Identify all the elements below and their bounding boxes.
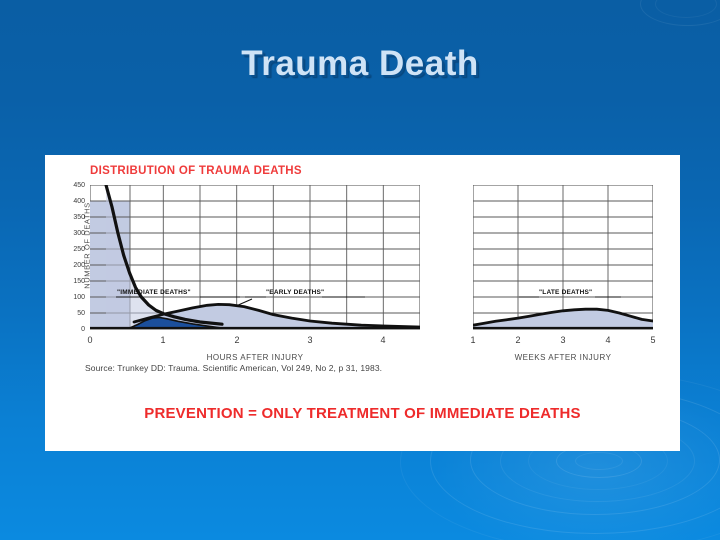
y-tick-400: 400 [59,198,85,205]
x-tick-3: 3 [300,335,320,345]
left-chart-plot [90,185,420,335]
slide: Trauma Death DISTRIBUTION OF TRAUMA DEAT… [0,0,720,540]
week-tick-3: 3 [553,335,573,345]
y-tick-0: 0 [59,326,85,333]
week-tick-1: 1 [463,335,483,345]
annotation-immediate-deaths: "IMMEDIATE DEATHS" [117,289,191,296]
x-tick-4: 4 [373,335,393,345]
source-citation: Source: Trunkey DD: Trauma. Scientific A… [85,363,382,373]
x-tick-2: 2 [227,335,247,345]
chart-title: DISTRIBUTION OF TRAUMA DEATHS [90,165,302,177]
week-tick-4: 4 [598,335,618,345]
y-tick-250: 250 [59,246,85,253]
y-tick-350: 350 [59,214,85,221]
right-chart-plot [473,185,653,335]
annotation-late-deaths: "LATE DEATHS" [539,289,592,296]
x-axis-label-hours: HOURS AFTER INJURY [175,353,335,362]
y-tick-200: 200 [59,262,85,269]
week-tick-2: 2 [508,335,528,345]
y-tick-100: 100 [59,294,85,301]
annotation-early-deaths: "EARLY DEATHS" [266,289,324,296]
conclusion-text: PREVENTION = ONLY TREATMENT OF IMMEDIATE… [45,405,680,422]
y-tick-450: 450 [59,182,85,189]
y-tick-50: 50 [59,310,85,317]
x-axis-label-weeks: WEEKS AFTER INJURY [483,353,643,362]
x-tick-0: 0 [80,335,100,345]
y-tick-150: 150 [59,278,85,285]
y-tick-300: 300 [59,230,85,237]
x-tick-1: 1 [153,335,173,345]
chart-panel: DISTRIBUTION OF TRAUMA DEATHS NUMBER OF … [45,155,680,451]
week-tick-5: 5 [643,335,663,345]
page-title: Trauma Death [0,44,720,84]
